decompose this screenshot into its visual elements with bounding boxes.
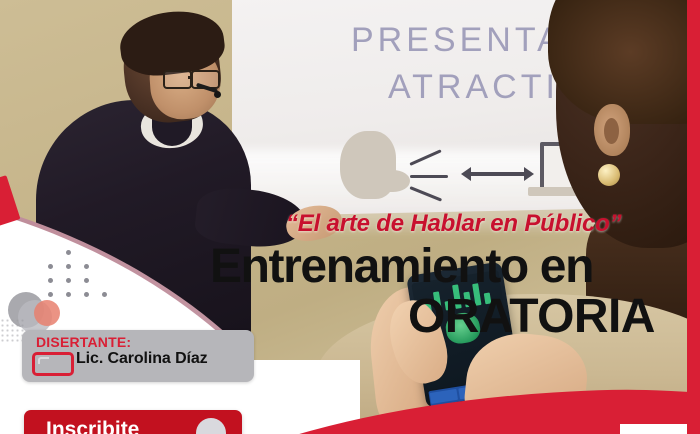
cta-button-label: Inscribite — [46, 418, 139, 434]
presenter-glasses-bridge — [188, 76, 193, 79]
event-title-line1: Entrenamiento en — [210, 243, 593, 291]
double-arrow-icon — [468, 172, 526, 176]
event-poster: PRESENTACIONES ATRACTIVAS — [0, 0, 700, 434]
double-arrow-left-head-icon — [461, 167, 471, 181]
double-arrow-right-head-icon — [524, 167, 534, 181]
event-tagline-quote: “El arte de Hablar en Público” — [286, 210, 621, 238]
presenter-microphone-capsule — [214, 91, 221, 98]
speaking-head-mouth-icon — [376, 170, 410, 192]
speaker-name: Lic. Carolina Díaz — [76, 350, 208, 368]
speaker-label: DISERTANTE: — [36, 334, 131, 350]
audience-member-ear-inner — [604, 118, 619, 144]
salmon-circle-decor — [34, 300, 60, 326]
badge-id-icon — [32, 352, 74, 376]
audience-member-earring — [598, 164, 620, 186]
red-right-border — [687, 0, 700, 434]
cta-button[interactable]: Inscribite — [24, 410, 242, 434]
presenter-glasses-left-lens — [163, 70, 192, 89]
arrow-circle-icon — [196, 418, 226, 434]
sound-ray-icon — [410, 175, 448, 178]
event-title-line2: ORATORIA — [408, 293, 655, 341]
